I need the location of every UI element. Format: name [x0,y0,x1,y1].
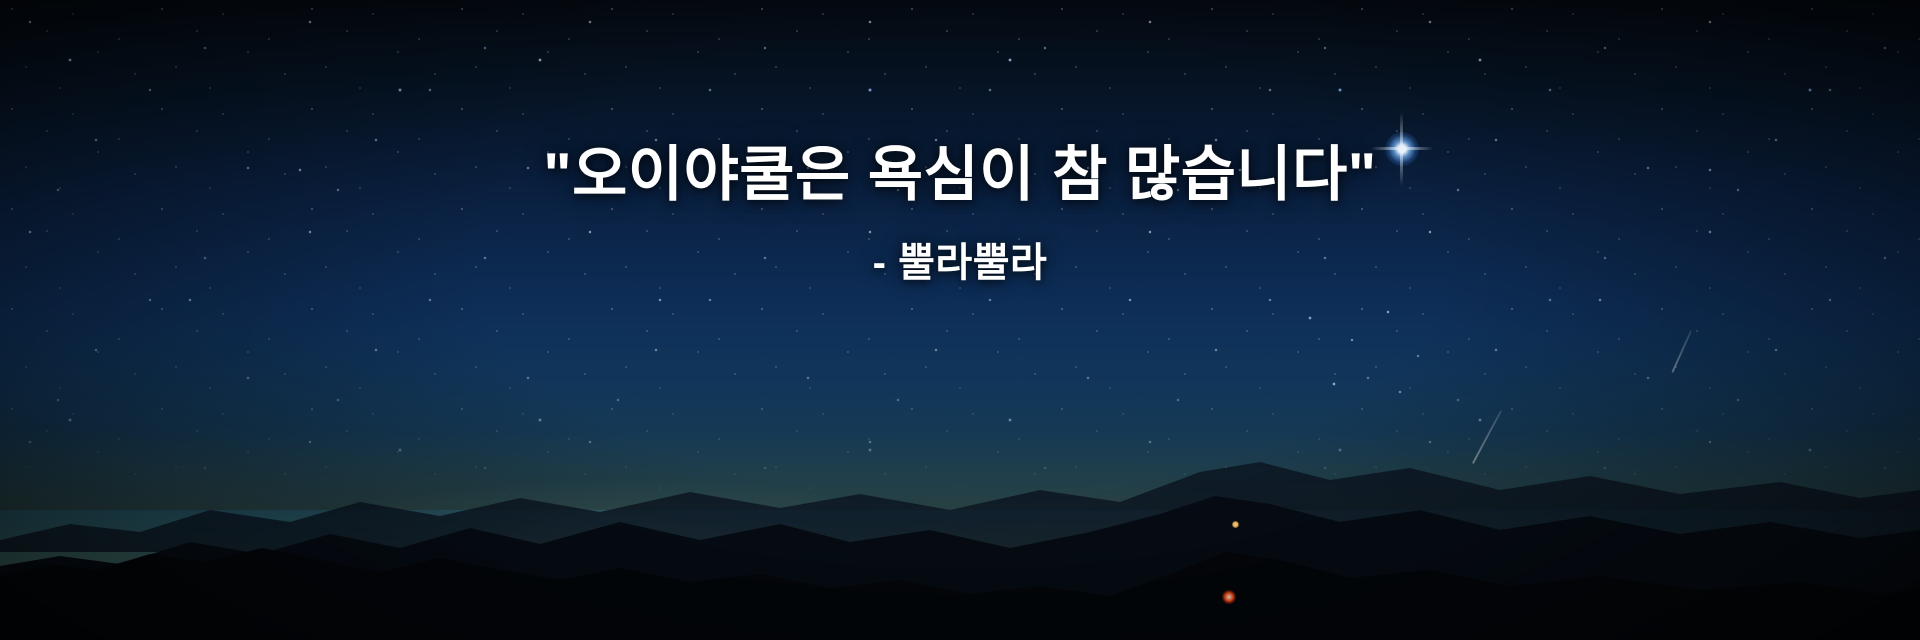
red-beacon-light-icon [1222,590,1236,604]
night-sky-quote-banner: "오이야쿨은 욕심이 참 많습니다" - 뿔라뿔라 [0,0,1920,640]
star-cluster-icon [1290,300,1450,410]
peak-beacon-light-icon [1232,521,1239,528]
quote-text-block: "오이야쿨은 욕심이 참 많습니다" - 뿔라뿔라 [0,140,1920,288]
quote-attribution: - 뿔라뿔라 [0,230,1920,288]
quote-text: "오이야쿨은 욕심이 참 많습니다" [0,140,1920,210]
mountain-ridge-near [0,500,1920,640]
